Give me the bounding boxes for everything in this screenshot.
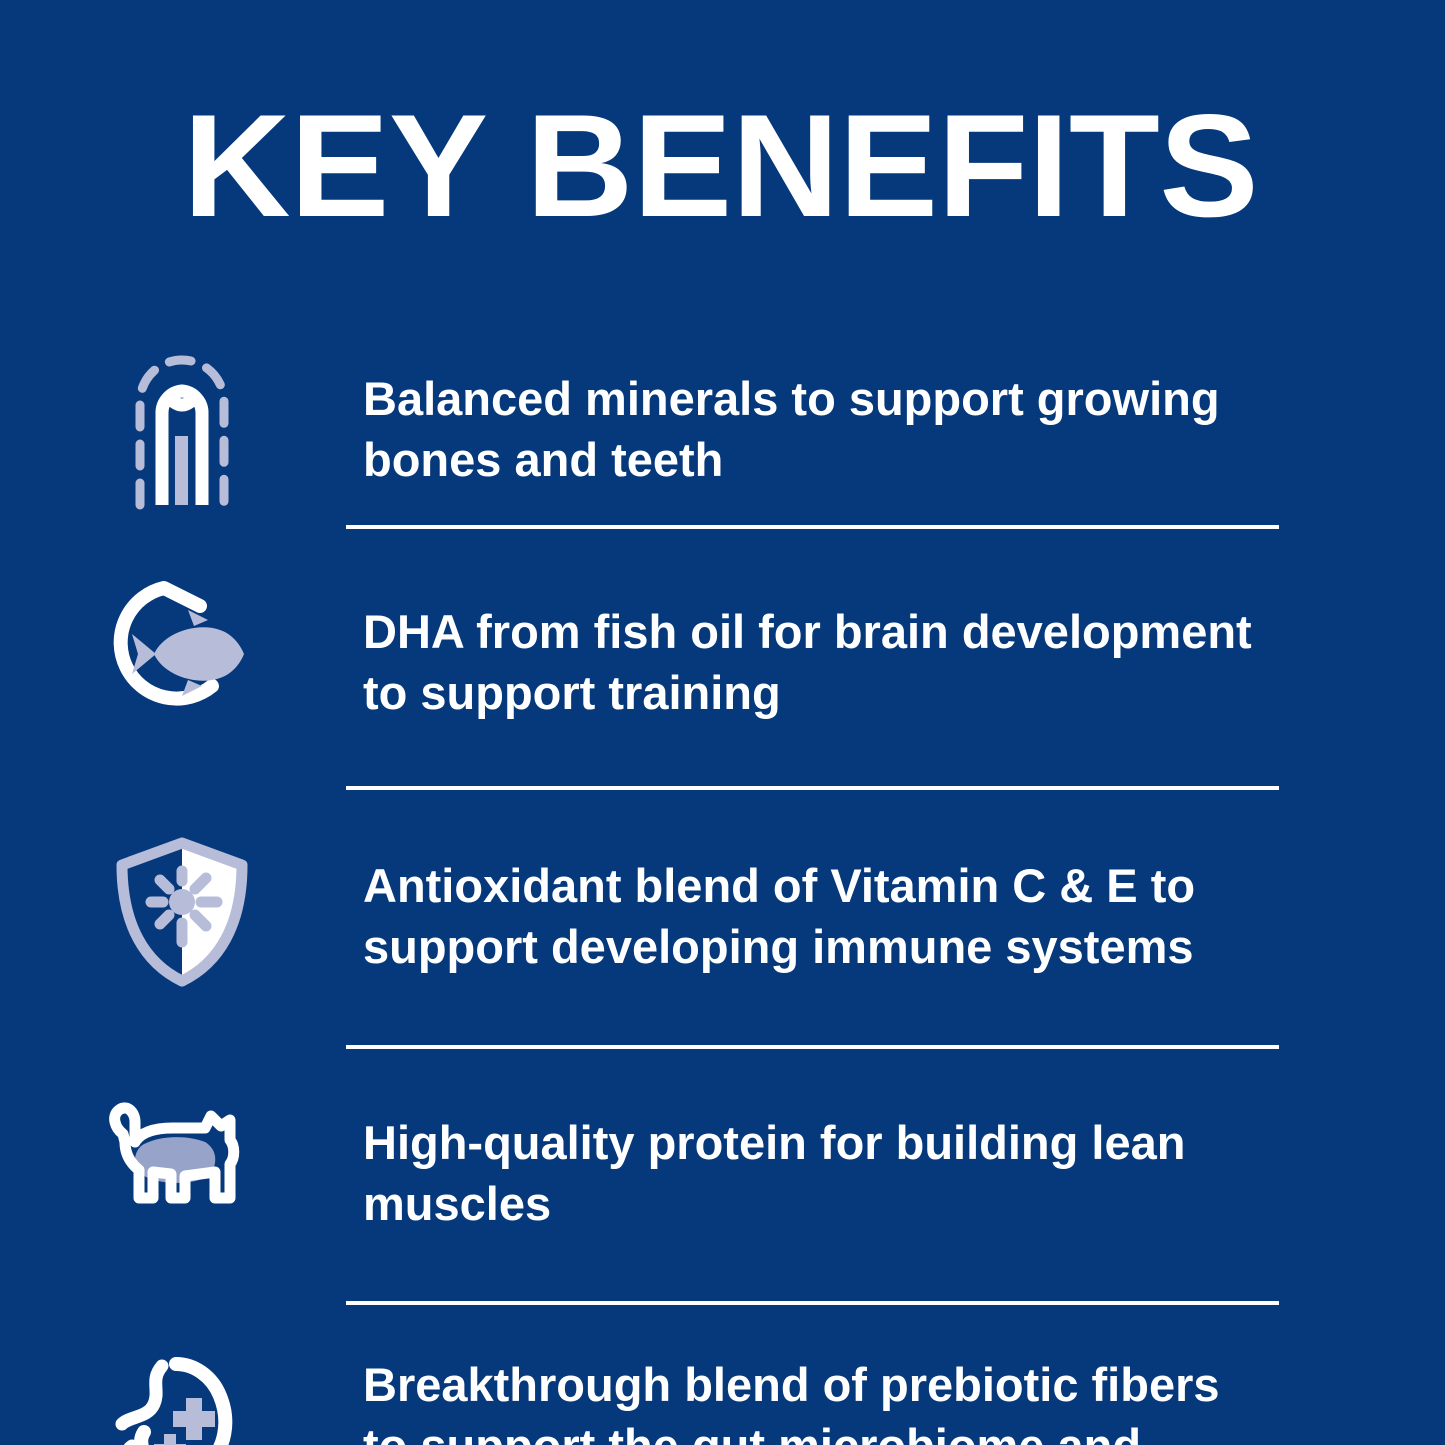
benefit-text-cell: Breakthrough blend of prebiotic fibers t… <box>363 1346 1445 1445</box>
benefit-label: DHA from fish oil for brain development … <box>363 601 1275 723</box>
dog-muscle-icon <box>0 1088 363 1218</box>
stomach-digestive-icon <box>0 1346 363 1445</box>
benefit-divider <box>0 525 1445 526</box>
benefits-list: Balanced minerals to support growing bon… <box>0 340 1445 1445</box>
benefit-divider <box>0 1045 1445 1046</box>
benefit-text-cell: Balanced minerals to support growing bon… <box>363 340 1445 490</box>
benefit-divider <box>0 1301 1445 1302</box>
benefit-divider <box>0 786 1445 787</box>
shield-antioxidant-icon <box>0 829 363 994</box>
benefit-text-cell: High-quality protein for building lean m… <box>363 1088 1445 1234</box>
divider-line <box>346 525 1279 529</box>
benefit-label: Antioxidant blend of Vitamin C & E to su… <box>363 855 1275 977</box>
benefit-label: High-quality protein for building lean m… <box>363 1112 1275 1234</box>
divider-line <box>346 1045 1279 1049</box>
benefit-label: Balanced minerals to support growing bon… <box>363 368 1275 490</box>
benefit-item-digestive: Breakthrough blend of prebiotic fibers t… <box>0 1346 1445 1445</box>
benefit-label: Breakthrough blend of prebiotic fibers t… <box>363 1354 1275 1445</box>
page-title: KEY BENEFITS <box>183 96 1305 236</box>
key-benefits-panel: KEY BENEFITS Balanced minerals to suppor… <box>0 0 1445 1445</box>
fish-oil-droplet-icon <box>0 568 363 728</box>
benefit-item-antioxidant: Antioxidant blend of Vitamin C & E to su… <box>0 829 1445 1009</box>
benefit-item-dha: DHA from fish oil for brain development … <box>0 568 1445 758</box>
benefit-item-protein: High-quality protein for building lean m… <box>0 1088 1445 1263</box>
benefit-text-cell: DHA from fish oil for brain development … <box>363 568 1445 723</box>
divider-line <box>346 786 1279 790</box>
benefit-item-bone: Balanced minerals to support growing bon… <box>0 340 1445 525</box>
page-title-container: KEY BENEFITS <box>183 96 1283 236</box>
benefit-text-cell: Antioxidant blend of Vitamin C & E to su… <box>363 829 1445 977</box>
divider-line <box>346 1301 1279 1305</box>
bone-icon <box>0 340 363 510</box>
